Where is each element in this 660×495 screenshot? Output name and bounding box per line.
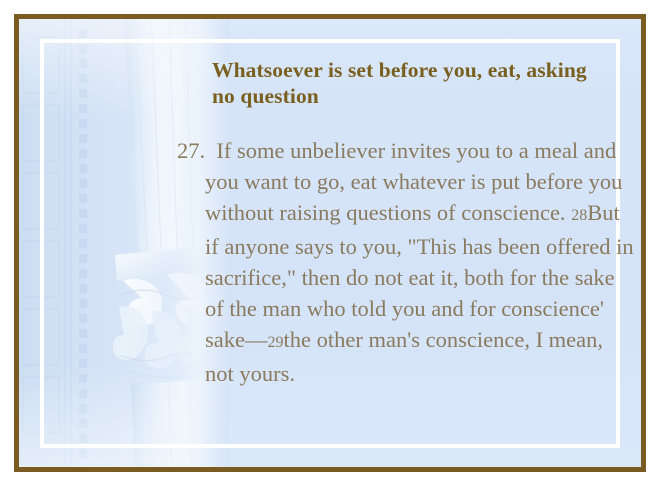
slide-title: Whatsoever is set before you, eat, askin… [212,57,612,109]
slide-content: Whatsoever is set before you, eat, askin… [19,19,641,467]
slide-canvas: Whatsoever is set before you, eat, askin… [0,0,660,495]
verse-text-27: If some unbeliever invites you to a meal… [205,138,622,225]
slide-frame-border: Whatsoever is set before you, eat, askin… [14,14,646,472]
slide-body-text: 27. If some unbeliever invites you to a … [177,135,635,389]
verse-number-29: 29 [267,334,283,351]
verse-gap-27 [205,138,216,163]
verse-number-27: 27. [177,138,205,163]
verse-number-28: 28 [571,207,587,224]
